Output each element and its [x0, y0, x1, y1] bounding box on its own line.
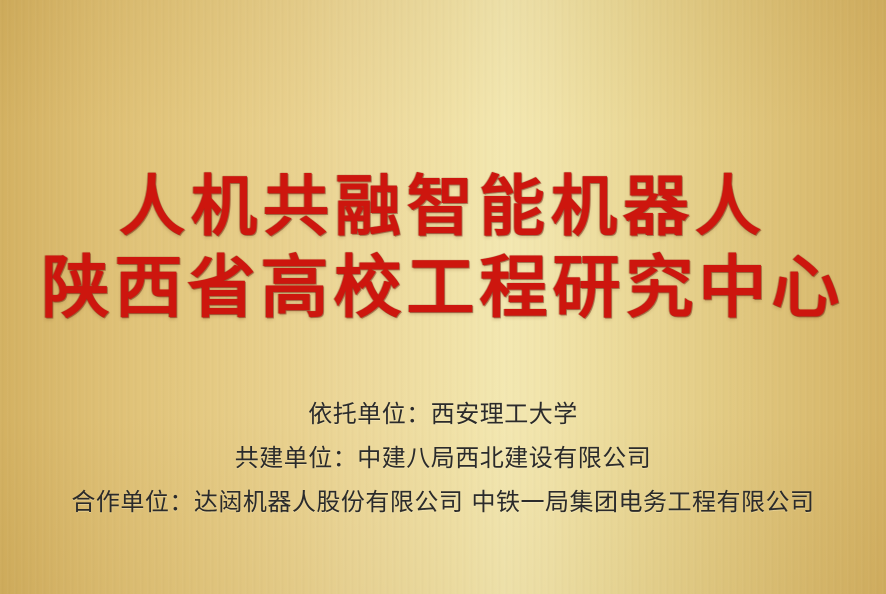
plaque-title-line-1: 人机共融智能机器人 — [0, 168, 886, 244]
gold-plaque: 人机共融智能机器人 陕西省高校工程研究中心 依托单位：西安理工大学 共建单位：中… — [0, 0, 886, 594]
plaque-title-line-2: 陕西省高校工程研究中心 — [0, 248, 886, 328]
plaque-affiliations: 依托单位：西安理工大学 共建单位：中建八局西北建设有限公司 合作单位：达闼机器人… — [0, 392, 886, 524]
affiliation-partners: 合作单位：达闼机器人股份有限公司 中铁一局集团电务工程有限公司 — [0, 480, 886, 524]
affiliation-host-institution: 依托单位：西安理工大学 — [0, 392, 886, 436]
plaque-title: 人机共融智能机器人 陕西省高校工程研究中心 — [0, 168, 886, 328]
affiliation-co-builder: 共建单位：中建八局西北建设有限公司 — [0, 436, 886, 480]
plaque-content: 人机共融智能机器人 陕西省高校工程研究中心 依托单位：西安理工大学 共建单位：中… — [0, 0, 886, 594]
